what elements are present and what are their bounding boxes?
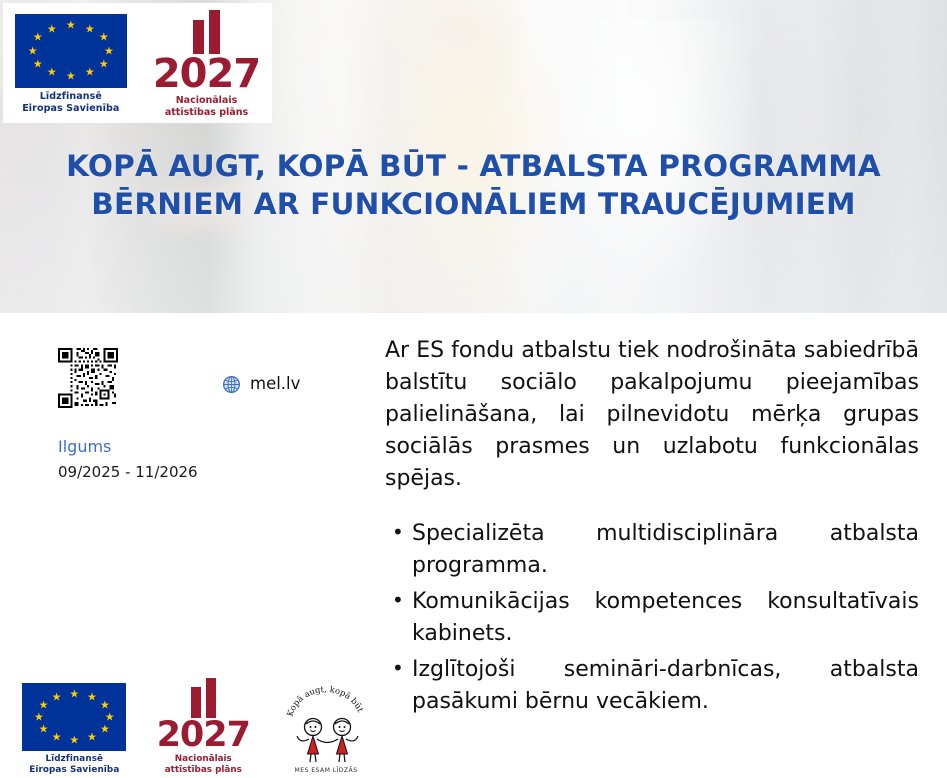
national-plan-footer-year: 2027 xyxy=(157,719,250,752)
list-item: Komunikācijas kompetences konsultatīvais… xyxy=(385,586,919,650)
poster-root: ★ ★ ★ ★ ★ ★ ★ ★ ★ ★ ★ ★ Līdzfinansē Eiro… xyxy=(0,0,947,778)
list-item-text: Specializēta multidisciplināra atbalsta … xyxy=(412,521,919,578)
project-arc-text: Kopā augt, kopā būt xyxy=(285,684,366,718)
national-plan-caption: Nacionālais attīstības plāns xyxy=(165,95,248,119)
footer-logo-strip: ★ ★ ★ ★ ★ ★ ★ ★ ★ ★ ★ ★ Līdzfinans xyxy=(22,676,372,776)
duration-label: Ilgums xyxy=(58,439,111,455)
qr-code-icon[interactable] xyxy=(58,348,118,408)
list-item: Izglītojoši semināri-darbnīcas, atbalsta… xyxy=(385,654,919,718)
np-footer-caption-line2: attīstības plāns xyxy=(165,765,242,776)
svg-text:Kopā augt, kopā būt: Kopā augt, kopā būt xyxy=(285,684,366,718)
list-item-text: Komunikācijas kompetences konsultatīvais… xyxy=(412,589,919,646)
main-content: Ar ES fondu atbalstu tiek nodrošināta sa… xyxy=(385,313,919,778)
body-section: mel.lv Ilgums 09/2025 - 11/2026 ★ ★ ★ ★ … xyxy=(0,313,947,778)
list-item: Specializēta multidisciplināra atbalsta … xyxy=(385,518,919,582)
national-plan-logo-header: 2027 Nacionālais attīstības plāns xyxy=(153,10,260,119)
eu-caption-line2: Eiropas Savienība xyxy=(22,103,119,115)
eu-logo-footer: ★ ★ ★ ★ ★ ★ ★ ★ ★ ★ ★ ★ Līdzfinans xyxy=(22,683,127,776)
eu-caption-line1: Līdzfinansē xyxy=(22,91,119,103)
header-logo-card: ★ ★ ★ ★ ★ ★ ★ ★ ★ ★ ★ ★ Līdzfinansē Eiro… xyxy=(3,3,272,123)
eu-footer-caption-line1: Līdzfinansē xyxy=(29,754,119,765)
national-plan-bars-icon xyxy=(191,678,216,718)
eu-footer-caption-line2: Eiropas Savienība xyxy=(29,765,119,776)
eu-flag-icon: ★ ★ ★ ★ ★ ★ ★ ★ ★ ★ ★ ★ xyxy=(15,14,127,88)
national-plan-footer-caption: Nacionālais attīstības plāns xyxy=(165,754,242,776)
intro-paragraph: Ar ES fondu atbalstu tiek nodrošināta sa… xyxy=(385,335,919,496)
globe-icon xyxy=(222,375,241,394)
duration-value: 09/2025 - 11/2026 xyxy=(58,465,198,480)
eu-logo-header: ★ ★ ★ ★ ★ ★ ★ ★ ★ ★ ★ ★ Līdzfinansē Eiro… xyxy=(15,14,127,115)
np-footer-caption-line1: Nacionālais xyxy=(165,754,242,765)
national-plan-year: 2027 xyxy=(153,55,260,93)
website-row[interactable]: mel.lv xyxy=(222,375,300,394)
np-caption-line2: attīstības plāns xyxy=(165,107,248,119)
left-column: mel.lv Ilgums 09/2025 - 11/2026 ★ ★ ★ ★ … xyxy=(0,313,372,778)
page-title: KOPĀ AUGT, KOPĀ BŪT - ATBALSTA PROGRAMMA… xyxy=(0,148,947,224)
national-plan-bars-icon xyxy=(193,10,220,54)
national-plan-logo-footer: 2027 Nacionālais attīstības plāns xyxy=(157,678,250,776)
eu-footer-caption: Līdzfinansē Eiropas Savienība xyxy=(29,754,119,776)
two-children-holding-hands-icon: Kopā augt, kopā būt xyxy=(280,680,372,776)
np-caption-line1: Nacionālais xyxy=(165,95,248,107)
eu-flag-icon: ★ ★ ★ ★ ★ ★ ★ ★ ★ ★ ★ ★ xyxy=(22,683,126,751)
project-sub-text: MES ESAM LĪDZĀS xyxy=(294,765,357,774)
header-banner: ★ ★ ★ ★ ★ ★ ★ ★ ★ ★ ★ ★ Līdzfinansē Eiro… xyxy=(0,0,947,313)
list-item-text: Izglītojoši semināri-darbnīcas, atbalsta… xyxy=(412,657,919,714)
eu-logo-caption: Līdzfinansē Eiropas Savienība xyxy=(22,91,119,115)
bullet-list: Specializēta multidisciplināra atbalsta … xyxy=(385,518,919,719)
website-label: mel.lv xyxy=(250,376,300,393)
